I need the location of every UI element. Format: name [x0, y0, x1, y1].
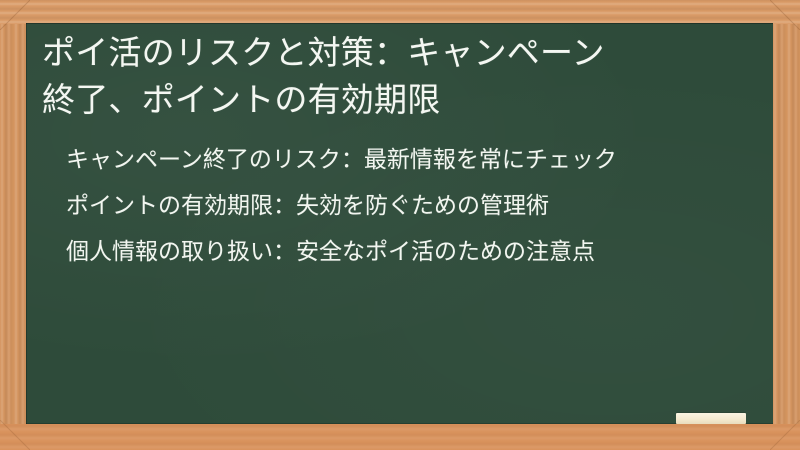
frame-rail-right: [773, 0, 800, 450]
chalkboard-surface: ポイ活のリスクと対策：キャンペーン 終了、ポイントの有効期限 キャンペーン終了の…: [26, 23, 773, 424]
page-title-line-1: ポイ活のリスクと対策：キャンペーン: [42, 33, 605, 72]
chalkboard-content: ポイ活のリスクと対策：キャンペーン 終了、ポイントの有効期限 キャンペーン終了の…: [26, 23, 773, 270]
page-title-line-2: 終了、ポイントの有効期限: [42, 80, 440, 119]
list-item: キャンペーン終了のリスク：最新情報を常にチェック: [66, 142, 737, 178]
page-title: ポイ活のリスクと対策：キャンペーン 終了、ポイントの有効期限: [36, 29, 763, 123]
frame-rail-bottom: [0, 424, 800, 450]
frame-rail-top: [0, 0, 800, 24]
list-item: ポイントの有効期限：失効を防ぐための管理術: [66, 188, 737, 224]
frame-rail-left: [0, 0, 27, 450]
list-item: 個人情報の取り扱い：安全なポイ活のための注意点: [66, 234, 737, 270]
bullet-list: キャンペーン終了のリスク：最新情報を常にチェック ポイントの有効期限：失効を防ぐ…: [36, 142, 763, 270]
chalk-stick: [676, 413, 746, 424]
chalkboard-frame: ポイ活のリスクと対策：キャンペーン 終了、ポイントの有効期限 キャンペーン終了の…: [0, 0, 800, 450]
